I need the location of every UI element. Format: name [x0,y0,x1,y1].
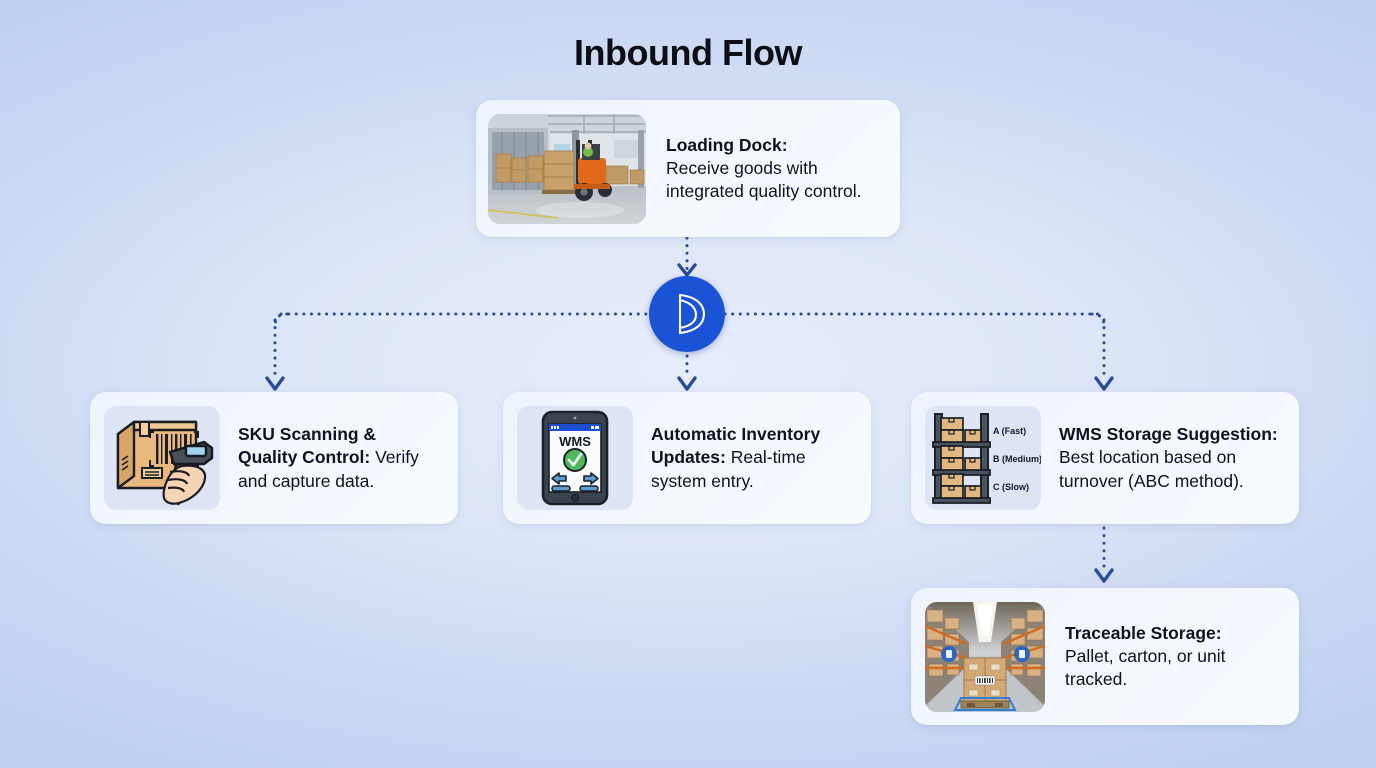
svg-text:WMS: WMS [559,434,591,449]
card-inventory-updates[interactable]: WMS Automatic Inventory Updates: Real [503,392,871,524]
card-sku-scanning-title: SKU Scanning & Quality Control: [238,424,376,467]
warehouse-aisle-photo [925,602,1045,712]
card-loading-dock-title: Loading Dock: [666,135,788,155]
card-traceable-storage[interactable]: Traceable Storage: Pallet, carton, or un… [911,588,1299,725]
arrowhead-to-wms [1096,378,1112,389]
card-loading-dock-body: Receive goods with integrated quality co… [666,158,862,201]
card-wms-storage-body: Best location based on turnover (ABC met… [1059,447,1244,490]
storage-rack-icon: A (Fast) B (Medium) C (Slow) [925,406,1041,510]
arrowhead-to-hub [679,265,695,275]
wms-tablet-icon: WMS [517,406,633,510]
card-traceable-storage-body: Pallet, carton, or unit tracked. [1065,646,1226,689]
card-wms-storage[interactable]: A (Fast) B (Medium) C (Slow) WMS Storage… [911,392,1299,524]
flow-leaf-icon [667,292,707,336]
loading-dock-photo [488,114,646,224]
card-loading-dock-text: Loading Dock: Receive goods with integra… [646,134,887,204]
flow-diagram-canvas: Inbound Flow [0,0,1376,768]
page-title: Inbound Flow [0,32,1376,74]
barcode-scanner-icon [104,406,220,510]
card-wms-storage-text: WMS Storage Suggestion: Best location ba… [1041,423,1285,492]
arrowhead-to-traceable [1096,570,1112,581]
card-traceable-storage-text: Traceable Storage: Pallet, carton, or un… [1045,622,1285,691]
arrowhead-to-inventory [679,378,695,389]
rack-label-b: B (Medium) [993,454,1041,464]
card-sku-scanning-text: SKU Scanning & Quality Control: Verify a… [220,423,444,492]
hub-node[interactable] [649,276,725,352]
card-wms-storage-title: WMS Storage Suggestion: [1059,424,1278,444]
arrowhead-to-sku [267,378,283,389]
connector-elbow-right [1092,314,1104,326]
rack-label-a: A (Fast) [993,426,1026,436]
card-inventory-updates-text: Automatic Inventory Updates: Real-time s… [633,423,857,492]
card-loading-dock[interactable]: Loading Dock: Receive goods with integra… [476,100,900,237]
card-traceable-storage-title: Traceable Storage: [1065,623,1222,643]
rack-label-c: C (Slow) [993,482,1029,492]
connector-elbow-left [275,314,287,326]
card-sku-scanning[interactable]: SKU Scanning & Quality Control: Verify a… [90,392,458,524]
